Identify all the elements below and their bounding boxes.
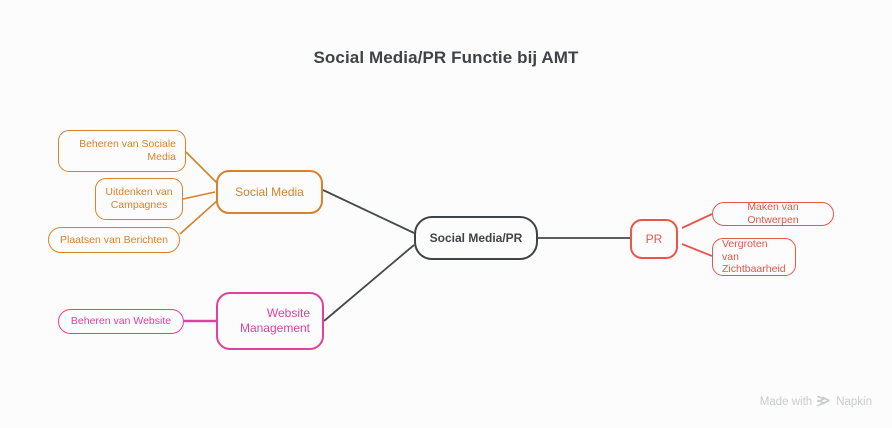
node-label: Social Media/PR [416, 231, 536, 246]
diagram-canvas: Social Media/PR Functie bij AMT Beheren … [0, 0, 892, 428]
node-label: Plaatsen van Berichten [58, 234, 170, 247]
node-label: PR [644, 232, 664, 247]
node-uitdenken-van-campagnes[interactable]: Uitdenken van Campagnes [95, 178, 183, 220]
edge-plaatsen-berichten [180, 200, 218, 234]
node-label: Beheren van Website [68, 315, 174, 328]
watermark: Made with Napkin [760, 395, 872, 408]
edge-beheren-sociale-media [186, 152, 218, 184]
node-beheren-van-website[interactable]: Beheren van Website [58, 309, 184, 334]
node-beheren-van-sociale-media[interactable]: Beheren van Sociale Media [58, 130, 186, 172]
node-label: Beheren van Sociale Media [68, 138, 176, 164]
edge-vergroten-zichtbaarheid [682, 244, 712, 256]
edge-website-management-root [324, 245, 414, 321]
node-website-management[interactable]: Website Management [216, 292, 324, 350]
node-root-social-media-pr[interactable]: Social Media/PR [414, 216, 538, 260]
watermark-text: Made with [760, 396, 812, 408]
edge-social-media-root [323, 190, 414, 233]
node-label: Maken van Ontwerpen [722, 201, 824, 227]
node-plaatsen-van-berichten[interactable]: Plaatsen van Berichten [48, 227, 180, 253]
node-vergroten-van-zichtbaarheid[interactable]: Vergroten van Zichtbaarheid [712, 238, 796, 276]
node-label: Social Media [230, 185, 309, 200]
node-social-media[interactable]: Social Media [216, 170, 323, 214]
edge-maken-ontwerpen [682, 214, 712, 228]
node-label: Vergroten van Zichtbaarheid [722, 238, 786, 276]
node-maken-van-ontwerpen[interactable]: Maken van Ontwerpen [712, 202, 834, 226]
page-title: Social Media/PR Functie bij AMT [0, 48, 892, 68]
edge-uitdenken-campagnes [183, 192, 215, 199]
watermark-brand: Napkin [836, 396, 872, 408]
napkin-chevron-logo-icon [817, 395, 831, 408]
node-label: Uitdenken van Campagnes [105, 186, 173, 212]
node-label: Website Management [230, 306, 310, 335]
node-pr[interactable]: PR [630, 219, 678, 259]
